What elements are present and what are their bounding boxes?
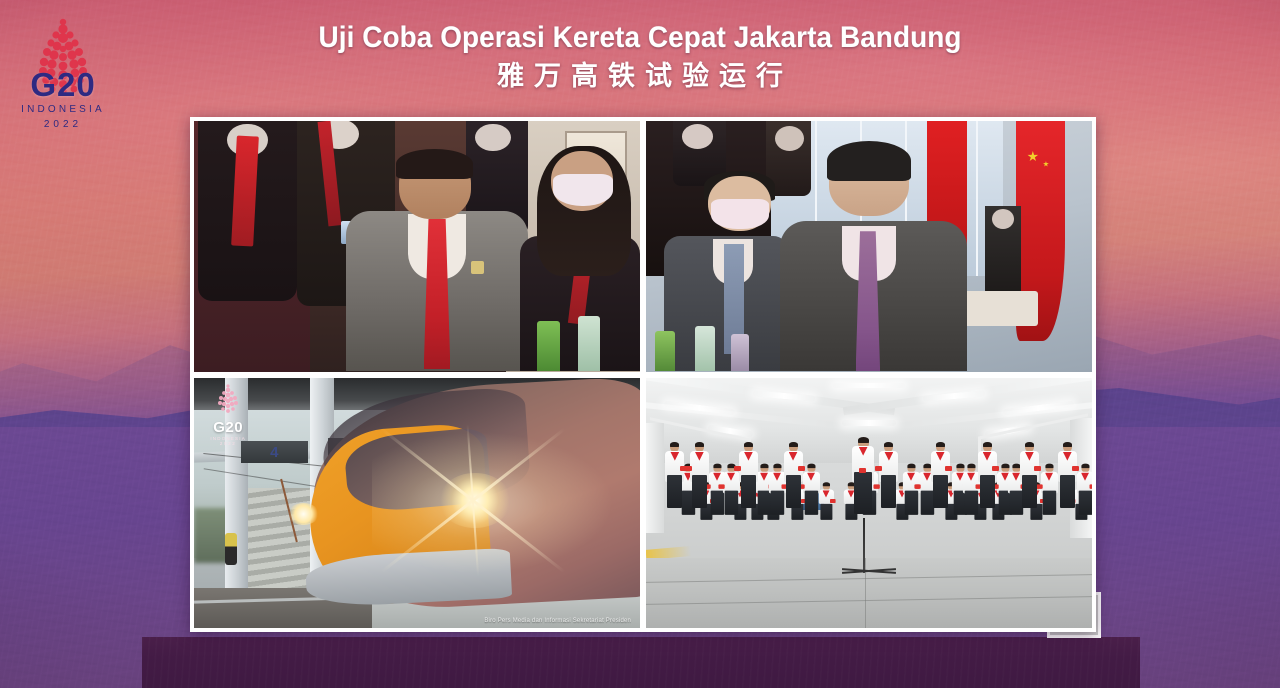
crowd-person-red-flag	[875, 466, 882, 471]
video-quad-grid: 4 3	[190, 117, 1096, 632]
crowd-person-red-flag	[685, 466, 692, 471]
bottle-clear	[695, 326, 715, 371]
crowd-person-trousers	[692, 475, 707, 509]
crowd-person-trousers	[980, 475, 995, 509]
bottle-green	[655, 331, 675, 371]
logo-wordmark: G20	[8, 68, 118, 101]
crowd-person	[1018, 443, 1040, 573]
background-aide-right-face	[992, 209, 1014, 229]
crowd-person-trousers	[881, 475, 896, 509]
platform-sign-4-label: 4	[270, 445, 278, 460]
crowd-person-red-flag	[798, 466, 805, 471]
crowd-person-hair	[884, 442, 893, 447]
broadcast-screen: G20 INDONESIA 2022 Uji Coba Operasi Kere…	[0, 0, 1280, 688]
logo-year: 2022	[8, 118, 118, 131]
train-headlight-left	[288, 503, 319, 526]
photo-credit: Biro Pers Media dan Informasi Sekretaria…	[484, 618, 631, 624]
g20-indonesia-logo: G20 INDONESIA 2022	[8, 8, 118, 126]
crowd-person-hair	[744, 442, 753, 447]
lapel-pin	[471, 261, 484, 274]
gunungan-motif-icon	[218, 384, 238, 413]
crowd-person	[976, 443, 998, 573]
side-table	[958, 291, 1038, 326]
crowd-person-hair	[983, 442, 992, 447]
speaker-at-microphone	[851, 438, 875, 578]
crowd-person	[737, 443, 759, 573]
crowd-person-hair	[807, 463, 815, 468]
crowd-person-hair	[727, 463, 735, 468]
crowd-person-red-flag	[734, 466, 741, 471]
headline-indonesian: Uji Coba Operasi Kereta Cepat Jakarta Ba…	[45, 0, 1235, 54]
president-hair	[827, 141, 912, 181]
bottle-clear	[578, 316, 600, 371]
panel-jokowi[interactable]	[194, 121, 640, 372]
crowd-person-trousers	[1060, 475, 1075, 509]
crowd-person-red-flag	[830, 499, 836, 503]
face-mask-icon	[711, 199, 769, 229]
crowd-person	[878, 443, 900, 573]
crowd-person-trousers	[667, 475, 682, 509]
crowd-person-hair	[670, 442, 679, 447]
speaker-trousers	[854, 472, 872, 514]
crowd-person	[688, 443, 710, 573]
crowd-person-hair	[1063, 442, 1072, 447]
crowd-person-hair	[773, 463, 781, 468]
crowd-person-trousers	[1043, 490, 1057, 514]
crowd-person-hair	[695, 442, 704, 447]
speaker-hair	[858, 437, 869, 443]
crowd-person-red-flag	[914, 484, 920, 489]
crowd-person-trousers	[804, 490, 818, 514]
background-delegate-face	[475, 124, 511, 152]
crowd-person-trousers	[904, 490, 918, 514]
bottle-purple	[731, 334, 749, 372]
crowd-person-hair	[967, 463, 975, 468]
stage-front-panel	[142, 637, 1140, 688]
crowd-person-trousers	[933, 475, 948, 509]
crowd-person-red-flag	[945, 466, 952, 471]
background-aide-left-face	[682, 124, 713, 149]
crowd-person	[1056, 443, 1078, 573]
crowd-person-red-flag	[718, 484, 724, 489]
crowd-person-hair	[1081, 463, 1089, 468]
crowd-person-hair	[1025, 442, 1034, 447]
face-mask-icon	[553, 174, 613, 207]
crowd-person-trousers	[1022, 475, 1037, 509]
crowd-person-hair	[936, 442, 945, 447]
speaker-red-flag	[859, 468, 866, 473]
headline-chinese: 雅万高铁试验运行	[0, 54, 1280, 92]
watermark-wordmark: G20	[205, 420, 251, 435]
crowd-person-hair	[789, 442, 798, 447]
crowd-person-red-flag	[1034, 466, 1041, 471]
crowd-person-trousers	[820, 504, 832, 520]
watermark-year: 2022	[205, 442, 251, 447]
crowd-person	[782, 443, 804, 573]
president-hair	[396, 149, 473, 179]
bottle-green	[537, 321, 559, 371]
crowd-person-hair	[1045, 463, 1053, 468]
crowd-person-hair	[713, 463, 721, 468]
trackside-worker	[225, 533, 237, 566]
logo-country: INDONESIA	[8, 101, 118, 118]
crowd-person-red-flag	[1090, 484, 1092, 489]
crowd-person-hair	[907, 463, 915, 468]
crowd-person	[929, 443, 951, 573]
crowd-person	[664, 443, 686, 573]
panel-crowd[interactable]	[646, 378, 1092, 629]
ceiling-light	[842, 420, 896, 426]
crowd-person-trousers	[1078, 490, 1092, 514]
crowd-person-trousers	[786, 475, 801, 509]
crowd-person-trousers	[741, 475, 756, 509]
g20-watermark: G20 INDONESIA 2022	[205, 383, 251, 441]
panel-xi[interactable]	[646, 121, 1092, 372]
crowd-person-trousers	[724, 490, 738, 514]
crowd-person-red-flag	[1072, 466, 1079, 471]
headline-block: Uji Coba Operasi Kereta Cepat Jakarta Ba…	[0, 0, 1280, 91]
crowd-person-red-flag	[992, 466, 999, 471]
window-mullion	[976, 121, 978, 276]
ceiling-light	[833, 383, 904, 389]
crowd-person-hair	[823, 482, 830, 486]
panel-train[interactable]: 4 3	[194, 378, 640, 629]
